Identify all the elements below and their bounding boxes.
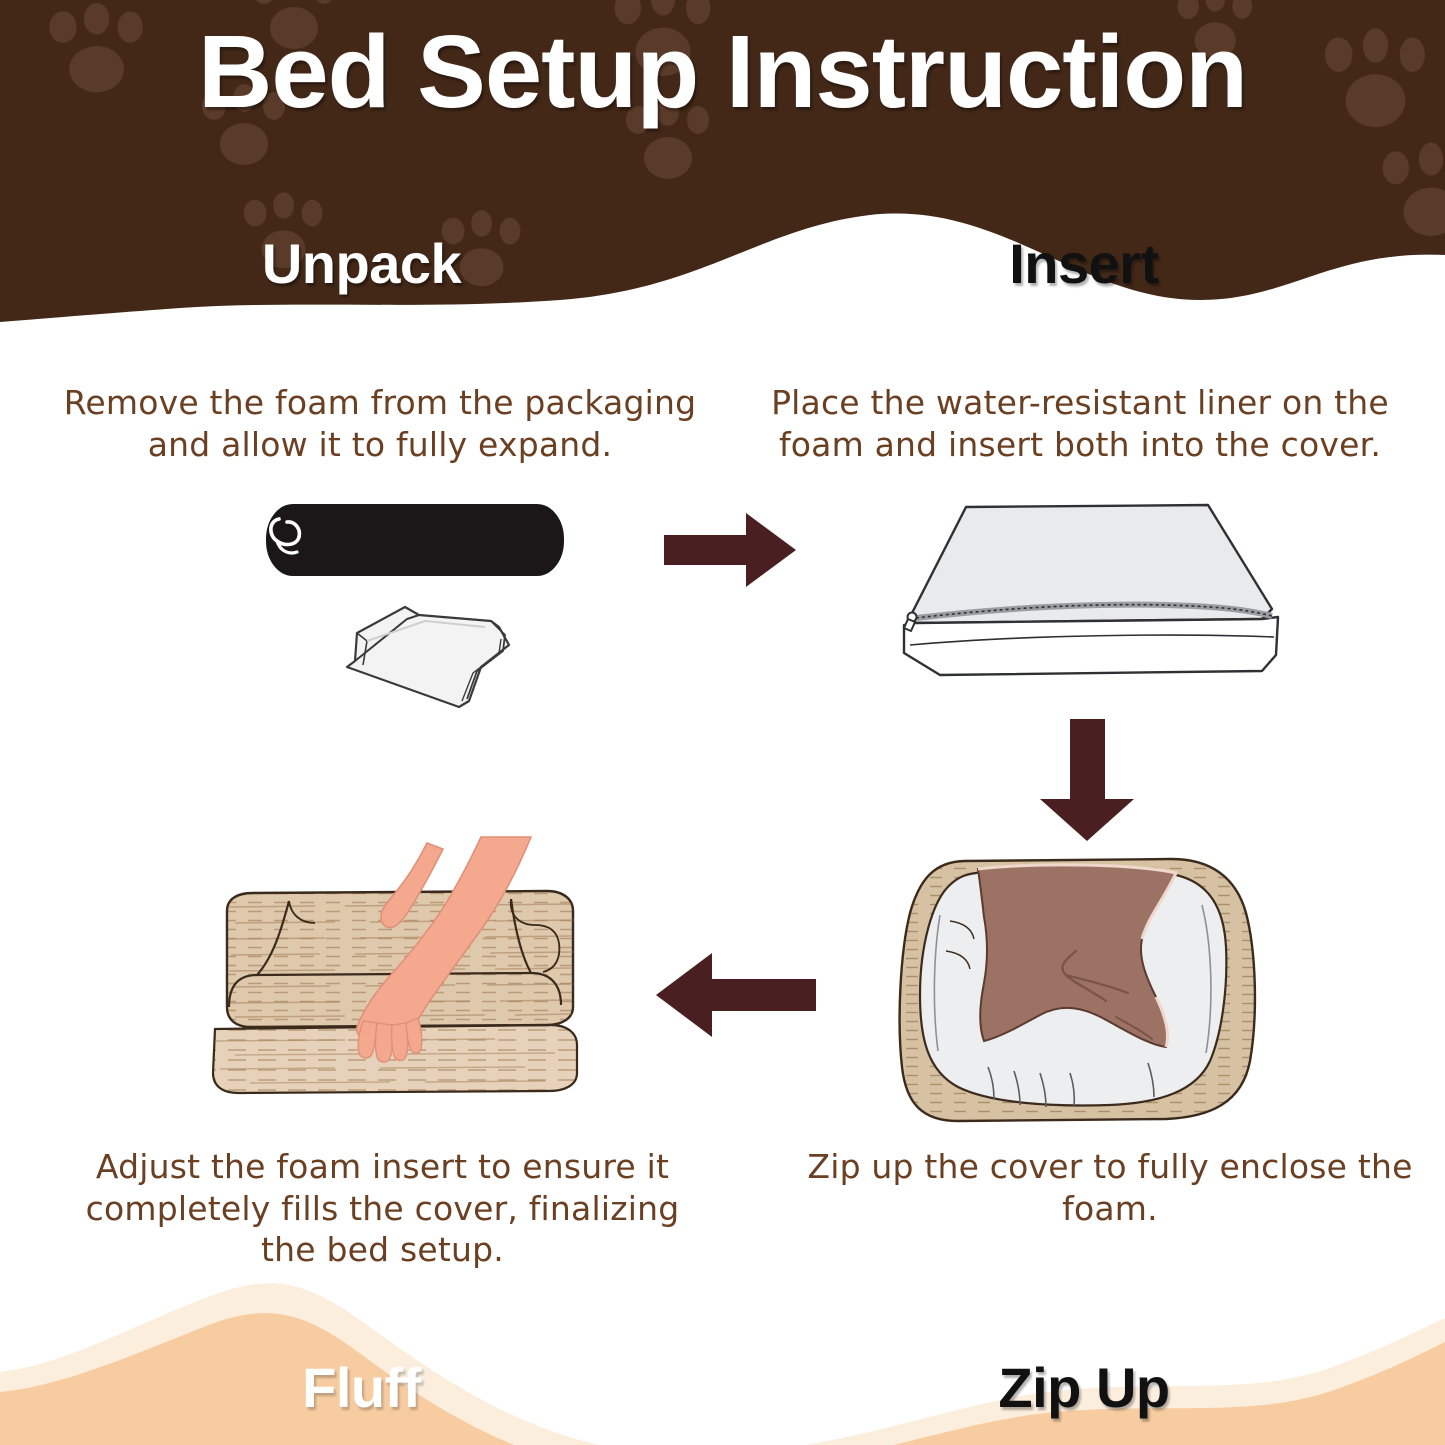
caption-fluff: Adjust the foam insert to ensure it comp… — [55, 1146, 710, 1271]
folded-liner-icon — [347, 607, 509, 707]
step-label-insert: Insert — [723, 231, 1445, 296]
step-label-unpack: Unpack — [0, 231, 723, 296]
illustration-hand-pressing-bed — [195, 835, 625, 1115]
rolled-foam-icon — [267, 505, 563, 575]
caption-unpack: Remove the foam from the packaging and a… — [60, 382, 700, 465]
step-label-fluff: Fluff — [0, 1355, 723, 1420]
arrow-zipup-to-fluff-icon — [650, 945, 820, 1045]
arrow-unpack-to-insert-icon — [660, 505, 800, 595]
caption-insert: Place the water-resistant liner on the f… — [745, 382, 1415, 465]
step-label-zipup: Zip Up — [723, 1355, 1445, 1420]
page-title: Bed Setup Instruction — [0, 14, 1445, 129]
illustration-open-cover-with-foam — [880, 855, 1265, 1125]
infographic-canvas: Bed Setup Instruction Unpack Insert Fluf… — [0, 0, 1445, 1445]
illustration-rolled-foam-and-liner — [255, 495, 595, 730]
arrow-insert-to-zipup-icon — [1030, 715, 1145, 845]
illustration-zippered-cushion — [880, 485, 1300, 690]
caption-zipup: Zip up the cover to fully enclose the fo… — [800, 1146, 1420, 1229]
